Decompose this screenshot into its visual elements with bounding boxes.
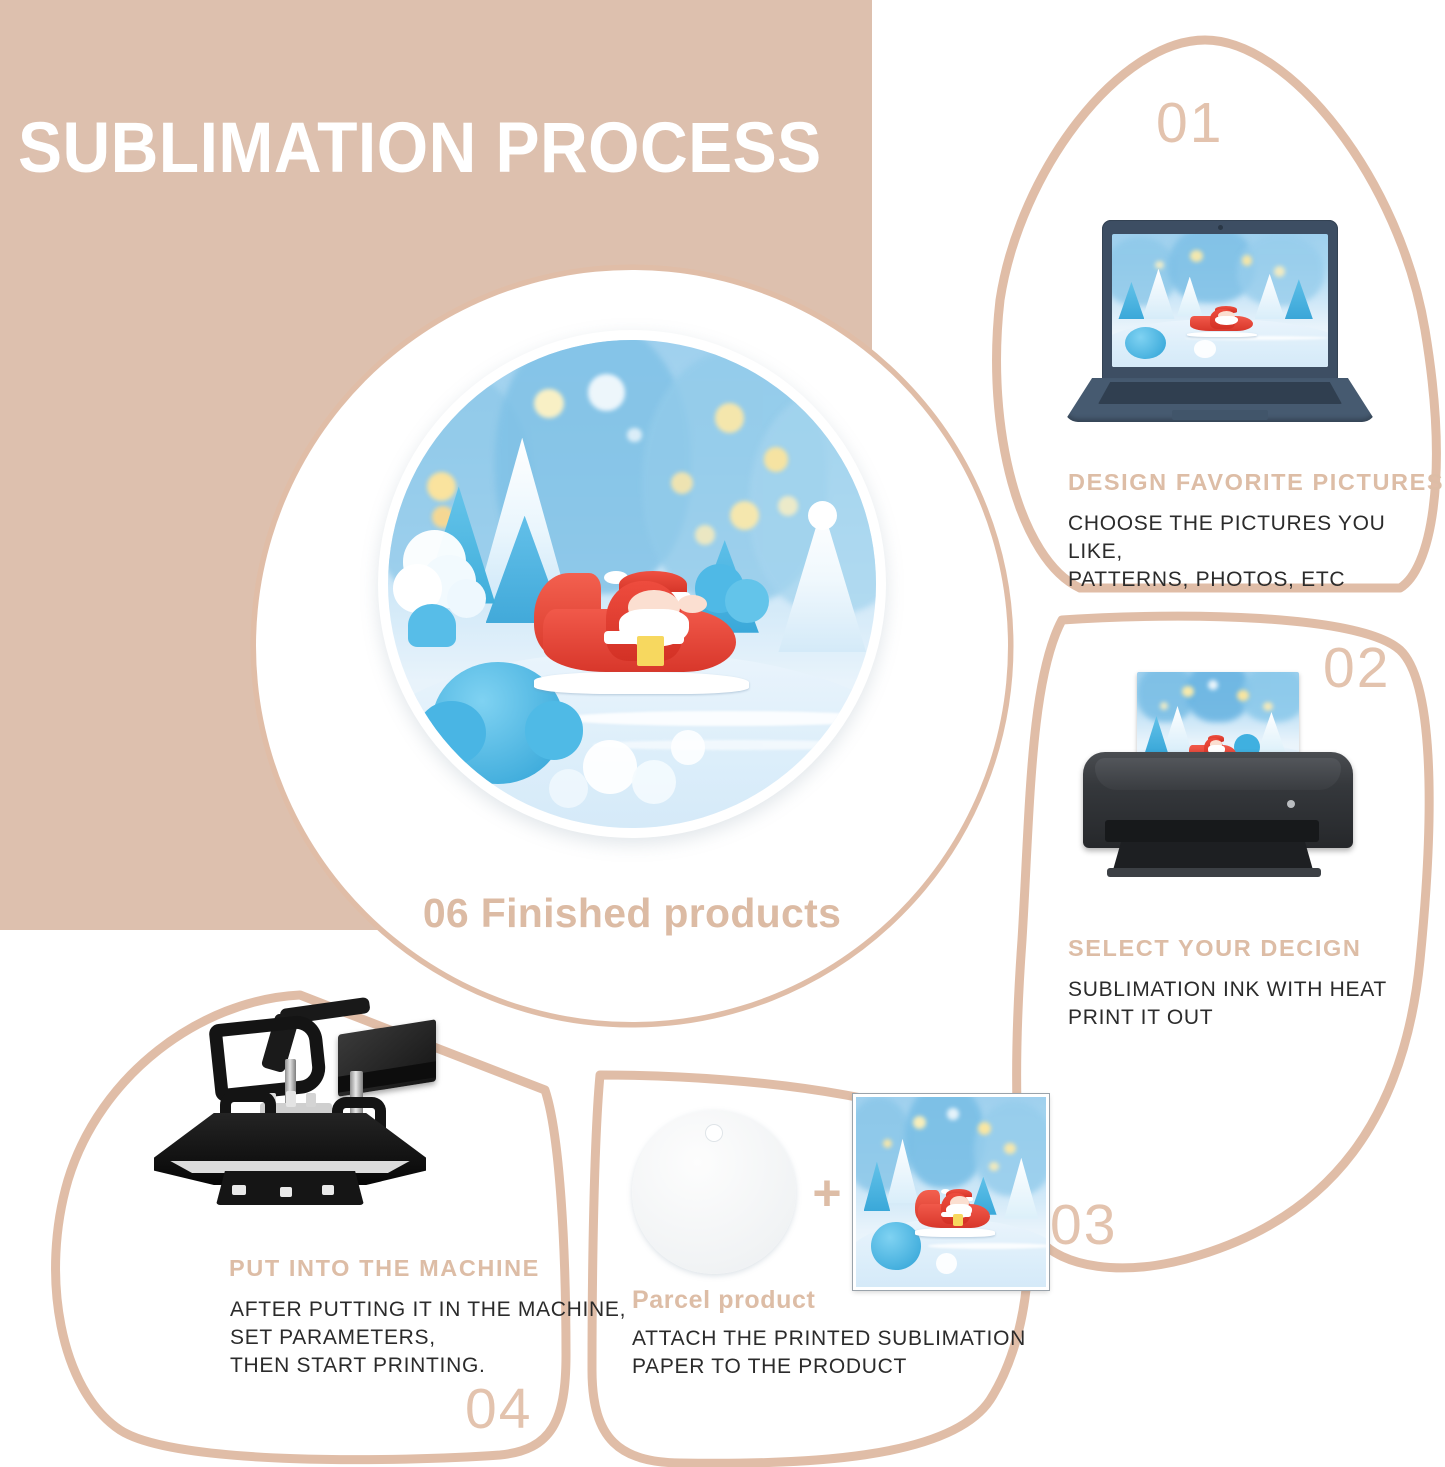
winter-scene-artwork <box>388 340 876 828</box>
step-03-heading: Parcel product <box>632 1286 815 1315</box>
press-handle <box>208 1013 328 1102</box>
printer-icon <box>1065 660 1365 920</box>
step-number-01: 01 <box>1156 95 1223 152</box>
step-01-body: CHOOSE THE PICTURES YOU LIKE, PATTERNS, … <box>1068 510 1445 594</box>
printed-image-icon <box>853 1094 1049 1290</box>
ornament-hole <box>705 1124 723 1142</box>
step-04-body: AFTER PUTTING IT IN THE MACHINE, SET PAR… <box>230 1296 626 1380</box>
step-04-heading: PUT INTO THE MACHINE <box>229 1255 540 1282</box>
finished-product-ornament <box>378 330 886 838</box>
plus-icon: + <box>806 1168 848 1218</box>
page-title: SUBLIMATION PROCESS <box>18 112 818 187</box>
laptop-icon <box>1050 220 1390 445</box>
step-number-04: 04 <box>465 1381 532 1438</box>
santa-sleigh <box>530 560 754 697</box>
step-number-03: 03 <box>1050 1197 1117 1254</box>
printer-power-indicator <box>1287 800 1295 808</box>
blank-ornament-icon <box>632 1110 796 1274</box>
heat-press-machine-icon <box>120 985 460 1235</box>
step-03-body: ATTACH THE PRINTED SUBLIMATION PAPER TO … <box>632 1325 1026 1381</box>
step-02-body: SUBLIMATION INK WITH HEAT PRINT IT OUT <box>1068 976 1387 1032</box>
step-01-heading: DESIGN FAVORITE PICTURES <box>1068 469 1444 496</box>
center-label: 06 Finished products <box>256 890 1008 937</box>
infographic-canvas: SUBLIMATION PROCESS <box>0 0 1445 1467</box>
step-02-heading: SELECT YOUR DECIGN <box>1068 935 1361 962</box>
